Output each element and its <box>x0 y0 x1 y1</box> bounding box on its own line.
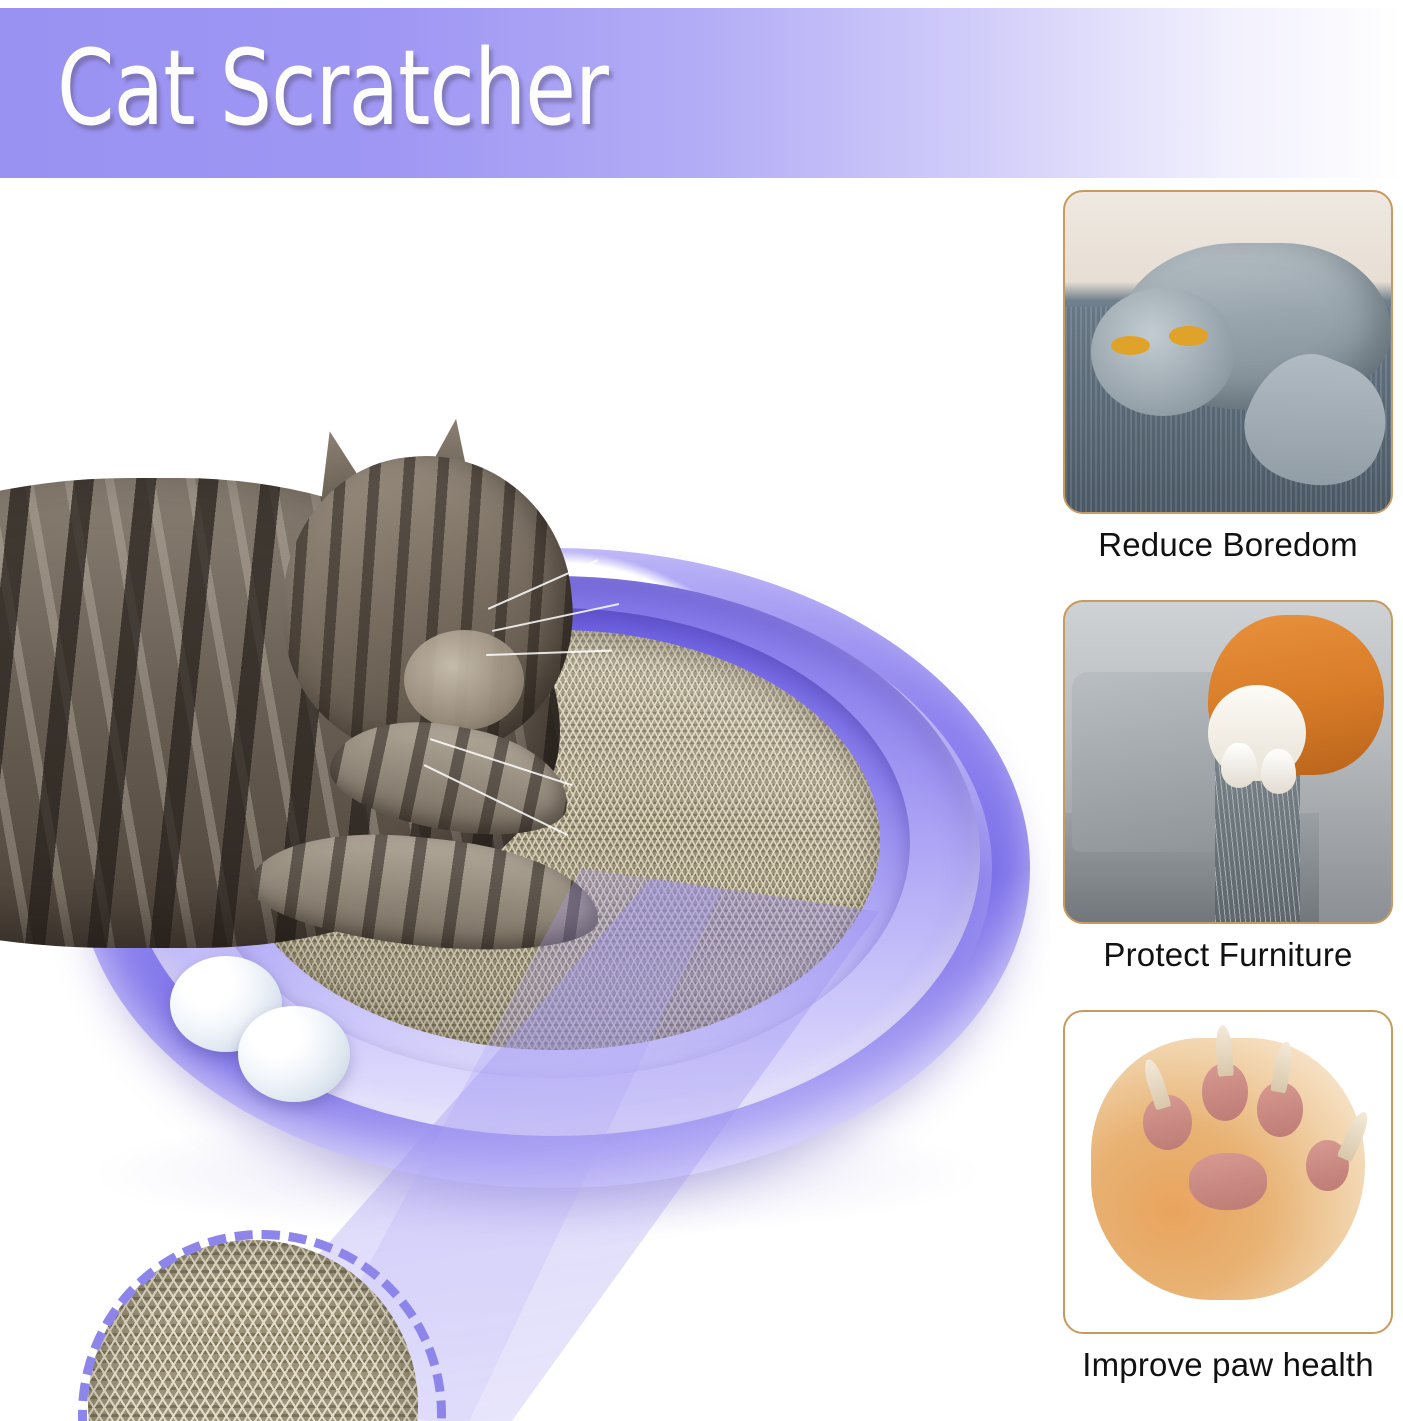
cat-muzzle <box>404 630 524 730</box>
benefit-card-protect-furniture: Protect Furniture <box>1063 600 1393 974</box>
benefit-card-reduce-boredom: Reduce Boredom <box>1063 190 1393 564</box>
benefit-caption: Reduce Boredom <box>1063 526 1393 564</box>
hero-product-image <box>0 178 1050 1421</box>
page-title: Cat Scratcher <box>57 34 608 143</box>
cat-eye-left <box>1111 336 1150 355</box>
cat-claw <box>1215 1024 1235 1076</box>
benefit-panel-rail: Reduce Boredom Protect Furniture <box>1063 190 1393 1421</box>
benefit-thumbnail <box>1063 190 1393 514</box>
title-banner: Cat Scratcher <box>0 8 1403 178</box>
benefit-thumbnail <box>1063 600 1393 924</box>
benefit-thumbnail <box>1063 1010 1393 1334</box>
benefit-card-improve-paw-health: Improve paw health <box>1063 1010 1393 1384</box>
benefit-caption: Improve paw health <box>1063 1346 1393 1384</box>
play-ball <box>238 1006 350 1102</box>
cat-eye-right <box>1169 326 1208 345</box>
orange-cat-paw-right <box>1261 749 1297 794</box>
grey-cat-head <box>1091 288 1234 416</box>
paw-main-pad <box>1189 1153 1267 1211</box>
benefit-caption: Protect Furniture <box>1063 936 1393 974</box>
orange-cat-paw-left <box>1221 743 1257 788</box>
